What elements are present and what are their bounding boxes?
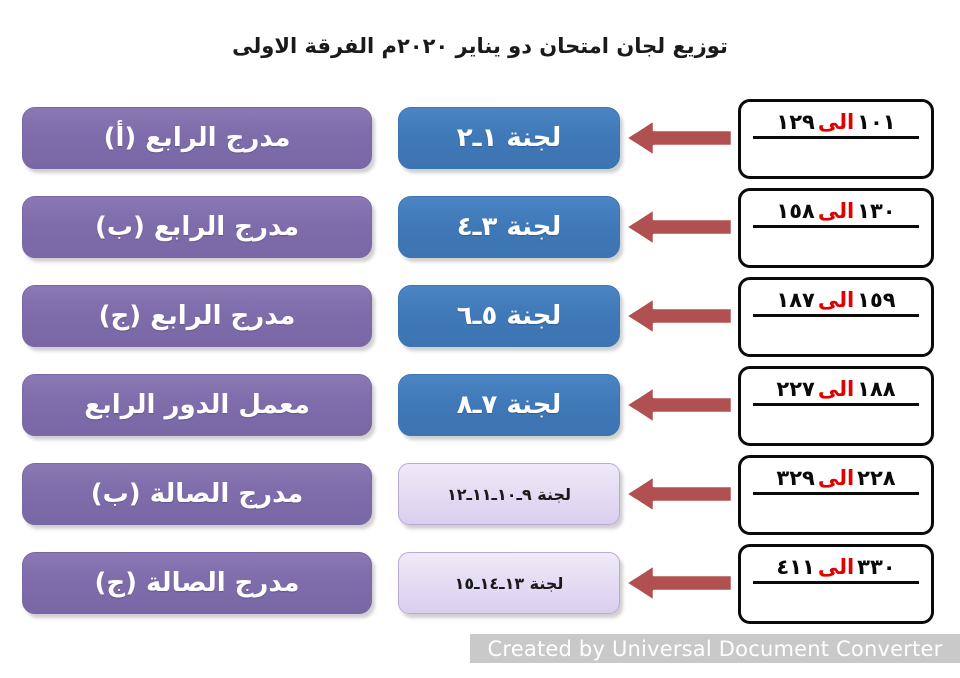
left-arrow-icon (624, 562, 734, 604)
seat-range-text: ٣٣٠الى٤١١ (753, 555, 919, 584)
range-to-word: الى (815, 466, 857, 490)
seat-range-box[interactable]: ١٣٠الى١٥٨ (738, 188, 934, 268)
venue-box[interactable]: مدرج الصالة (ب) (22, 463, 372, 525)
committee-box[interactable]: لجنة ٥ـ٦ (398, 285, 620, 347)
seat-range-text: ١٨٨الى٢٢٧ (753, 377, 919, 406)
left-arrow-icon (624, 384, 734, 426)
page-title: توزيع لجان امتحان دو يناير ٢٠٢٠م الفرقة … (0, 34, 960, 58)
committee-box[interactable]: لجنة ١ـ٢ (398, 107, 620, 169)
range-to-word: الى (815, 199, 857, 223)
range-until: ٢٢٧ (776, 377, 814, 401)
range-from: ١٥٩ (857, 288, 895, 312)
diagram-row: مدرج الرابع (ب)لجنة ٣ـ٤١٣٠الى١٥٨ (0, 188, 960, 277)
range-until: ١٥٨ (776, 199, 814, 223)
seat-range-box[interactable]: ١٠١الى١٢٩ (738, 99, 934, 179)
venue-box[interactable]: مدرج الرابع (ب) (22, 196, 372, 258)
seat-range-text: ١٥٩الى١٨٧ (753, 288, 919, 317)
diagram-row: مدرج الصالة (ج)لجنة ١٣ـ١٤ـ١٥٣٣٠الى٤١١ (0, 544, 960, 633)
venue-box[interactable]: مدرج الرابع (أ) (22, 107, 372, 169)
range-to-word: الى (815, 110, 857, 134)
range-to-word: الى (815, 377, 857, 401)
range-from: ٢٢٨ (857, 466, 895, 490)
range-until: ١٢٩ (776, 110, 814, 134)
range-until: ٣٢٩ (776, 466, 814, 490)
range-to-word: الى (815, 555, 857, 579)
watermark: Created by Universal Document Converter (470, 634, 960, 663)
committee-distribution-diagram: مدرج الرابع (أ)لجنة ١ـ٢١٠١الى١٢٩مدرج الر… (0, 99, 960, 633)
range-from: ١٨٨ (857, 377, 895, 401)
diagram-row: مدرج الرابع (أ)لجنة ١ـ٢١٠١الى١٢٩ (0, 99, 960, 188)
diagram-row: مدرج الصالة (ب)لجنة ٩ـ١٠ـ١١ـ١٢٢٢٨الى٣٢٩ (0, 455, 960, 544)
range-to-word: الى (815, 288, 857, 312)
range-from: ٣٣٠ (857, 555, 895, 579)
seat-range-text: ٢٢٨الى٣٢٩ (753, 466, 919, 495)
range-from: ١٣٠ (857, 199, 895, 223)
seat-range-text: ١٠١الى١٢٩ (753, 110, 919, 139)
left-arrow-icon (624, 206, 734, 248)
left-arrow-icon (624, 473, 734, 515)
venue-box[interactable]: مدرج الصالة (ج) (22, 552, 372, 614)
range-from: ١٠١ (857, 110, 895, 134)
left-arrow-icon (624, 117, 734, 159)
diagram-row: معمل الدور الرابعلجنة ٧ـ٨١٨٨الى٢٢٧ (0, 366, 960, 455)
left-arrow-icon (624, 295, 734, 337)
range-until: ١٨٧ (776, 288, 814, 312)
seat-range-text: ١٣٠الى١٥٨ (753, 199, 919, 228)
venue-box[interactable]: مدرج الرابع (ج) (22, 285, 372, 347)
diagram-row: مدرج الرابع (ج)لجنة ٥ـ٦١٥٩الى١٨٧ (0, 277, 960, 366)
venue-box[interactable]: معمل الدور الرابع (22, 374, 372, 436)
seat-range-box[interactable]: ٣٣٠الى٤١١ (738, 544, 934, 624)
seat-range-box[interactable]: ١٥٩الى١٨٧ (738, 277, 934, 357)
committee-box[interactable]: لجنة ٧ـ٨ (398, 374, 620, 436)
committee-box[interactable]: لجنة ٣ـ٤ (398, 196, 620, 258)
committee-box[interactable]: لجنة ١٣ـ١٤ـ١٥ (398, 552, 620, 614)
seat-range-box[interactable]: ٢٢٨الى٣٢٩ (738, 455, 934, 535)
seat-range-box[interactable]: ١٨٨الى٢٢٧ (738, 366, 934, 446)
range-until: ٤١١ (776, 555, 814, 579)
committee-box[interactable]: لجنة ٩ـ١٠ـ١١ـ١٢ (398, 463, 620, 525)
